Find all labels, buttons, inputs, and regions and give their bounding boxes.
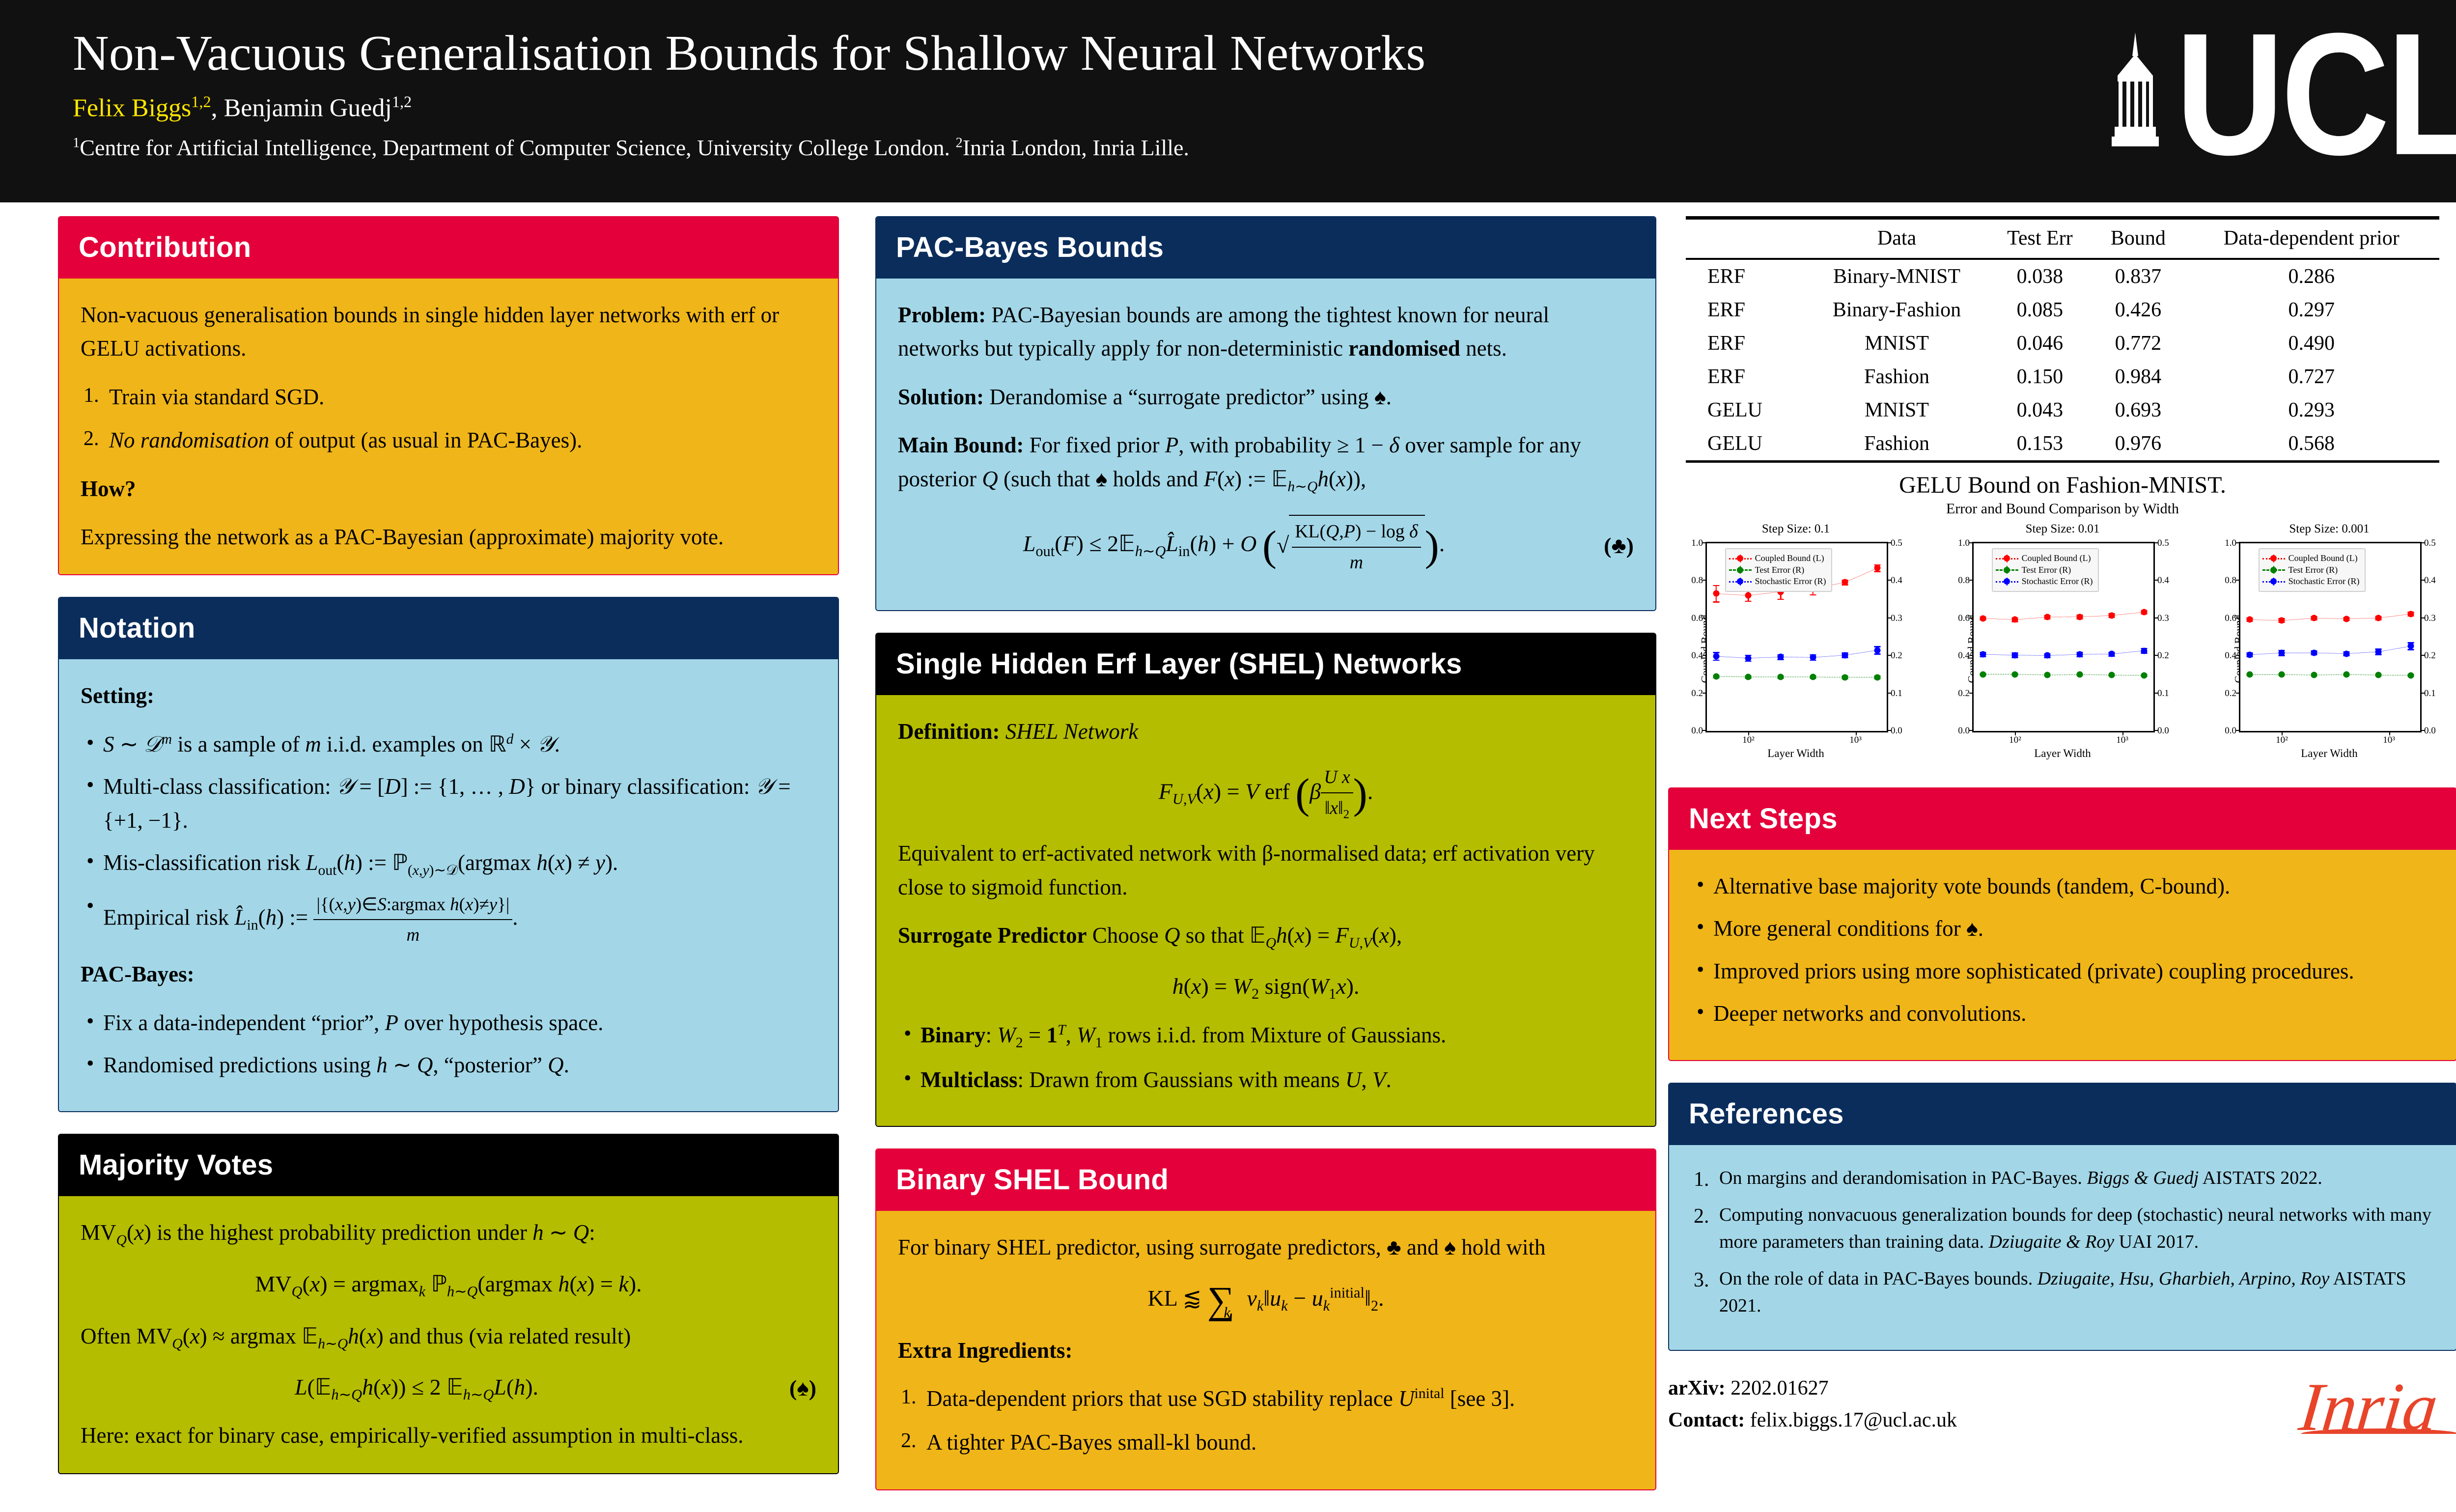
contribution-list: Train via standard SGD. No randomisation… bbox=[84, 380, 816, 457]
data-point bbox=[2109, 613, 2115, 619]
data-point bbox=[1745, 592, 1752, 599]
chart-subplot-row: Step Size: 0.1Coupled BoundStochastic Er… bbox=[1668, 522, 2456, 773]
mv-line-1: MVQ(x) is the highest probability predic… bbox=[81, 1216, 816, 1252]
y-tick-mark-left bbox=[1969, 580, 1974, 581]
arxiv-label: arXiv: bbox=[1668, 1377, 1726, 1400]
contribution-item-1: Train via standard SGD. bbox=[109, 385, 324, 409]
y-tick-left: 0.4 bbox=[2225, 650, 2236, 661]
legend-marker-icon bbox=[1729, 555, 1752, 562]
binary-shel-box: Binary SHEL Bound For binary SHEL predic… bbox=[875, 1148, 1656, 1490]
y-tick-left: 0.4 bbox=[1958, 650, 1970, 661]
table-cell: Binary-Fashion bbox=[1806, 293, 1987, 327]
data-point bbox=[1713, 673, 1719, 680]
list-item: Fix a data-independent “prior”, P over h… bbox=[86, 1006, 816, 1039]
data-point bbox=[2044, 614, 2051, 620]
legend-item: Coupled Bound (L) bbox=[1996, 553, 2093, 563]
majority-votes-box: Majority Votes MVQ(x) is the highest pro… bbox=[58, 1134, 839, 1474]
pbb-main: Main Bound: For fixed prior P, with prob… bbox=[898, 428, 1634, 498]
x-axis-label: Layer Width bbox=[1767, 747, 1824, 760]
list-item: On margins and derandomisation in PAC-Ba… bbox=[1694, 1165, 2434, 1192]
table-cell: 0.297 bbox=[2184, 293, 2440, 327]
y-tick-mark-right bbox=[1887, 730, 1891, 731]
data-point bbox=[2044, 652, 2051, 659]
x-tick: 10² bbox=[1742, 735, 1755, 746]
table-cell: GELU bbox=[1686, 427, 1806, 462]
data-point bbox=[2408, 611, 2414, 617]
legend-item: Stochastic Error (R) bbox=[1996, 576, 2093, 587]
y-tick-mark-right bbox=[1887, 655, 1891, 656]
y-tick-left: 0.0 bbox=[1958, 726, 1970, 736]
author-secondary: , Benjamin Guedj bbox=[211, 94, 392, 122]
shel-equation-1: FU,V(x) = V erf (βU x‖x‖2). bbox=[898, 763, 1634, 824]
author-secondary-affil: 1,2 bbox=[392, 93, 412, 111]
chart-subplot: Step Size: 0.001Coupled BoundStochastic … bbox=[2202, 522, 2456, 773]
legend-label: Test Error (R) bbox=[2022, 565, 2071, 575]
table-cell: 0.727 bbox=[2184, 360, 2440, 393]
y-tick-right: 0.5 bbox=[1891, 538, 1902, 549]
data-point bbox=[1874, 647, 1881, 653]
data-point bbox=[2109, 672, 2115, 678]
data-point bbox=[2141, 672, 2148, 678]
pac-bayes-bounds-body: Problem: PAC-Bayesian bounds are among t… bbox=[876, 279, 1655, 610]
series-line bbox=[1716, 676, 1877, 677]
list-item: Mis-classification risk Lout(h) := ℙ(x,y… bbox=[86, 846, 816, 882]
subplot-area: Coupled BoundStochastic Error / Test Err… bbox=[1935, 538, 2190, 760]
data-point bbox=[2076, 614, 2083, 620]
reference-venue: UAI 2017. bbox=[2114, 1232, 2199, 1252]
shel-equiv-text: Equivalent to erf-activated network with… bbox=[898, 837, 1634, 904]
data-point bbox=[1980, 651, 1986, 658]
data-point bbox=[2246, 651, 2253, 658]
col-data: Data bbox=[1806, 218, 1987, 259]
y-tick-right: 0.3 bbox=[2157, 613, 2169, 624]
y-tick-mark-right bbox=[2153, 730, 2158, 731]
contact-email[interactable]: felix.biggs.17@ucl.ac.uk bbox=[1750, 1409, 1957, 1431]
data-point bbox=[1745, 655, 1752, 661]
col-activation bbox=[1686, 218, 1806, 259]
shel-body: Definition: SHEL Network FU,V(x) = V erf… bbox=[876, 695, 1655, 1126]
list-item: More general conditions for ♠. bbox=[1697, 912, 2434, 945]
table-cell: Fashion bbox=[1806, 427, 1987, 462]
y-tick-left: 0.0 bbox=[1691, 726, 1703, 736]
table-row: ERFBinary-MNIST0.0380.8370.286 bbox=[1686, 259, 2439, 293]
x-tick-mark bbox=[2015, 731, 2016, 735]
subplot-title: Step Size: 0.01 bbox=[1935, 522, 2190, 536]
table-cell: ERF bbox=[1686, 360, 1806, 393]
data-point bbox=[2311, 650, 2317, 656]
data-point bbox=[2375, 615, 2382, 621]
table-cell: 0.837 bbox=[2093, 259, 2183, 293]
data-point bbox=[2076, 651, 2083, 658]
table-cell: 0.490 bbox=[2184, 327, 2440, 360]
notation-box: Notation Setting: S ∼ 𝒟m is a sample of … bbox=[58, 597, 839, 1112]
col-test-err: Test Err bbox=[1987, 218, 2093, 259]
table-cell: 0.038 bbox=[1987, 259, 2093, 293]
data-point bbox=[2311, 615, 2317, 621]
table-cell: Binary-MNIST bbox=[1806, 259, 1987, 293]
y-tick-mark-right bbox=[2420, 693, 2425, 694]
x-tick: 10³ bbox=[2116, 735, 2128, 746]
y-tick-mark-right bbox=[1887, 580, 1891, 581]
pbb-problem-bold: randomised bbox=[1348, 336, 1460, 361]
legend-label: Stochastic Error (R) bbox=[2022, 576, 2093, 587]
series-line bbox=[1983, 651, 2144, 656]
legend-item: Test Error (R) bbox=[1729, 565, 1826, 575]
y-tick-mark-left bbox=[1969, 617, 1974, 618]
header-text-block: Non-Vacuous Generalisation Bounds for Sh… bbox=[73, 26, 1620, 162]
references-body: On margins and derandomisation in PAC-Ba… bbox=[1669, 1145, 2456, 1350]
mv-line-2: Often MVQ(x) ≈ argmax 𝔼h∼Qh(x) and thus … bbox=[81, 1319, 816, 1355]
majority-votes-body: MVQ(x) is the highest probability predic… bbox=[59, 1196, 838, 1473]
mv-line-2-mid: and thus (via related result) bbox=[389, 1324, 631, 1348]
y-tick-mark-left bbox=[1702, 655, 1707, 656]
pbb-problem-b: nets. bbox=[1460, 336, 1507, 361]
data-point bbox=[1713, 653, 1719, 659]
list-item: Multi-class classification: 𝒴 = [D] := {… bbox=[86, 770, 816, 837]
contribution-intro: Non-vacuous generalisation bounds in sin… bbox=[81, 298, 816, 365]
table-cell: MNIST bbox=[1806, 327, 1987, 360]
data-point bbox=[2279, 650, 2285, 656]
references-box: References On margins and derandomisatio… bbox=[1668, 1083, 2456, 1351]
results-table-head: Data Test Err Bound Data-dependent prior bbox=[1686, 218, 2439, 259]
y-tick-right: 0.5 bbox=[2157, 538, 2169, 549]
y-tick-mark-left bbox=[1969, 542, 1974, 543]
y-tick-mark-right bbox=[2153, 655, 2158, 656]
shel-box: Single Hidden Erf Layer (SHEL) Networks … bbox=[875, 633, 1656, 1127]
next-steps-box: Next Steps Alternative base majority vot… bbox=[1668, 787, 2456, 1061]
table-cell: 0.976 bbox=[2093, 427, 2183, 462]
series-line bbox=[1983, 612, 2144, 619]
shel-definition-label: Definition: bbox=[898, 719, 1000, 744]
ucl-wordmark: UCL bbox=[2176, 21, 2456, 167]
pbb-problem-label: Problem: bbox=[898, 303, 986, 327]
next-steps-body: Alternative base majority vote bounds (t… bbox=[1669, 850, 2456, 1060]
y-tick-mark-right bbox=[2153, 542, 2158, 543]
legend-marker-icon bbox=[1729, 578, 1752, 586]
data-point bbox=[2012, 616, 2018, 623]
col-ddp: Data-dependent prior bbox=[2184, 218, 2440, 259]
table-cell: 0.046 bbox=[1987, 327, 2093, 360]
y-tick-mark-left bbox=[1702, 617, 1707, 618]
y-tick-mark-left bbox=[1969, 730, 1974, 731]
table-row: ERFBinary-Fashion0.0850.4260.297 bbox=[1686, 293, 2439, 327]
shel-title: Single Hidden Erf Layer (SHEL) Networks bbox=[876, 634, 1655, 695]
y-tick-right: 0.0 bbox=[2424, 726, 2436, 736]
affil-text-2: Inria London, Inria Lille. bbox=[963, 135, 1189, 160]
chart-legend: Coupled Bound (L)Test Error (R)Stochasti… bbox=[1992, 548, 2099, 592]
contribution-how-text: Expressing the network as a PAC-Bayesian… bbox=[81, 520, 816, 554]
series-line bbox=[2250, 646, 2411, 655]
y-tick-right: 0.1 bbox=[1891, 688, 1902, 699]
contribution-item-2-emph: No randomisation bbox=[109, 428, 269, 452]
x-axis-label: Layer Width bbox=[2034, 747, 2091, 760]
y-tick-left: 1.0 bbox=[1691, 538, 1703, 549]
legend-label: Stochastic Error (R) bbox=[2289, 576, 2360, 587]
data-point bbox=[1980, 671, 1986, 677]
contribution-box: Contribution Non-vacuous generalisation … bbox=[58, 216, 839, 575]
affil-marker-2: 2 bbox=[956, 136, 963, 151]
x-tick: 10² bbox=[2009, 735, 2021, 746]
data-point bbox=[2375, 672, 2382, 678]
binary-shel-extra-label: Extra Ingredients: bbox=[898, 1334, 1634, 1367]
table-row: GELUMNIST0.0430.6930.293 bbox=[1686, 393, 2439, 427]
author-line: Felix Biggs1,2, Benjamin Guedj1,2 bbox=[73, 92, 1620, 124]
x-tick-mark bbox=[1748, 731, 1749, 735]
reference-text: On the role of data in PAC-Bayes bounds. bbox=[1719, 1268, 2037, 1289]
table-cell: 0.568 bbox=[2184, 427, 2440, 462]
x-tick-mark bbox=[2389, 731, 2390, 735]
data-point bbox=[2044, 672, 2051, 678]
legend-item: Stochastic Error (R) bbox=[1729, 576, 1826, 587]
table-cell: 0.286 bbox=[2184, 259, 2440, 293]
plot-frame: 0.00.20.40.60.81.00.00.10.20.30.40.510²1… bbox=[1972, 542, 2155, 732]
affil-marker-1: 1 bbox=[73, 136, 80, 151]
y-tick-mark-right bbox=[2153, 693, 2158, 694]
legend-label: Stochastic Error (R) bbox=[1755, 576, 1826, 587]
table-cell: 0.043 bbox=[1987, 393, 2093, 427]
plot-frame: 0.00.20.40.60.81.00.00.10.20.30.40.510²1… bbox=[2239, 542, 2422, 732]
table-cell: 0.772 bbox=[2093, 327, 2183, 360]
table-cell: 0.153 bbox=[1987, 427, 2093, 462]
y-tick-left: 1.0 bbox=[2225, 538, 2236, 549]
affil-text-1: Centre for Artificial Intelligence, Depa… bbox=[80, 135, 955, 160]
y-tick-mark-right bbox=[2153, 617, 2158, 618]
results-table-body: ERFBinary-MNIST0.0380.8370.286ERFBinary-… bbox=[1686, 259, 2439, 462]
data-point bbox=[2375, 648, 2382, 655]
error-cap bbox=[1778, 599, 1784, 600]
col-bound: Bound bbox=[2093, 218, 2183, 259]
chart-block: GELU Bound on Fashion-MNIST. Error and B… bbox=[1668, 472, 2456, 773]
legend-item: Test Error (R) bbox=[1996, 565, 2093, 575]
binary-shel-title: Binary SHEL Bound bbox=[876, 1149, 1655, 1211]
notation-body: Setting: S ∼ 𝒟m is a sample of m i.i.d. … bbox=[59, 659, 838, 1111]
y-tick-mark-left bbox=[2236, 580, 2240, 581]
y-tick-mark-left bbox=[1969, 655, 1974, 656]
pac-bayes-bounds-box: PAC-Bayes Bounds Problem: PAC-Bayesian b… bbox=[875, 216, 1656, 611]
table-cell: 0.693 bbox=[2093, 393, 2183, 427]
list-item: Improved priors using more sophisticated… bbox=[1697, 954, 2434, 988]
mv-equation-1: MVQ(x) = argmaxk ℙh∼Q(argmax h(x) = k). bbox=[81, 1267, 816, 1303]
data-point bbox=[1842, 674, 1848, 680]
list-item: Train via standard SGD. bbox=[84, 380, 816, 414]
legend-label: Coupled Bound (L) bbox=[1755, 553, 1824, 563]
data-point bbox=[1810, 673, 1816, 680]
table-row: ERFFashion0.1500.9840.727 bbox=[1686, 360, 2439, 393]
list-item: Randomised predictions using h ∼ Q, “pos… bbox=[86, 1048, 816, 1082]
y-tick-left: 0.8 bbox=[1691, 575, 1703, 586]
reference-authors: Dziugaite & Roy bbox=[1989, 1232, 2114, 1252]
y-tick-left: 1.0 bbox=[1958, 538, 1970, 549]
references-title: References bbox=[1669, 1084, 2456, 1145]
poster-header: Non-Vacuous Generalisation Bounds for Sh… bbox=[0, 0, 2456, 202]
table-cell: ERF bbox=[1686, 293, 1806, 327]
reference-venue: AISTATS 2022. bbox=[2199, 1168, 2322, 1188]
legend-marker-icon bbox=[1729, 566, 1752, 574]
chart-title: GELU Bound on Fashion-MNIST. bbox=[1668, 472, 2456, 499]
y-tick-left: 0.6 bbox=[1958, 613, 1970, 624]
data-point bbox=[1713, 590, 1719, 597]
pbb-equation: Lout(F) ≤ 2𝔼h∼QL̂in(h) + O (√KL(Q,P) − l… bbox=[898, 515, 1570, 577]
data-point bbox=[2408, 643, 2414, 649]
series-line bbox=[2250, 614, 2411, 620]
table-cell: 0.293 bbox=[2184, 393, 2440, 427]
legend-marker-icon bbox=[2262, 578, 2285, 586]
y-tick-right: 0.2 bbox=[2424, 650, 2436, 661]
data-point bbox=[2311, 672, 2317, 678]
data-point bbox=[1778, 673, 1784, 680]
legend-label: Coupled Bound (L) bbox=[2022, 553, 2091, 563]
shel-surrogate: Surrogate Predictor Choose Q so that 𝔼Qh… bbox=[898, 919, 1634, 954]
y-tick-mark-right bbox=[1887, 693, 1891, 694]
series-line bbox=[2250, 674, 2411, 675]
contribution-item-2-rest: of output (as usual in PAC-Bayes). bbox=[269, 428, 582, 452]
list-item: Alternative base majority vote bounds (t… bbox=[1697, 869, 2434, 903]
x-tick-mark bbox=[2282, 731, 2283, 735]
next-steps-list: Alternative base majority vote bounds (t… bbox=[1697, 869, 2434, 1031]
list-item: Multiclass: Drawn from Gaussians with me… bbox=[904, 1063, 1634, 1096]
error-cap bbox=[1745, 601, 1752, 602]
data-point bbox=[2076, 672, 2083, 678]
y-tick-left: 0.2 bbox=[2225, 688, 2236, 699]
x-tick-mark bbox=[2122, 731, 2123, 735]
table-cell: ERF bbox=[1686, 327, 1806, 360]
y-tick-right: 0.2 bbox=[1891, 650, 1902, 661]
y-tick-right: 0.4 bbox=[2424, 575, 2436, 586]
data-point bbox=[1874, 674, 1881, 680]
left-column: Contribution Non-vacuous generalisation … bbox=[58, 216, 839, 1496]
majority-votes-title: Majority Votes bbox=[59, 1135, 838, 1196]
shel-definition: Definition: SHEL Network bbox=[898, 715, 1634, 748]
y-tick-left: 0.6 bbox=[2225, 613, 2236, 624]
contribution-title: Contribution bbox=[59, 217, 838, 279]
x-tick: 10³ bbox=[2383, 735, 2395, 746]
legend-item: Test Error (R) bbox=[2262, 565, 2360, 575]
pbb-main-label: Main Bound: bbox=[898, 433, 1024, 457]
table-cell: Fashion bbox=[1806, 360, 1987, 393]
arxiv-value[interactable]: 2202.01627 bbox=[1730, 1377, 1829, 1400]
binary-shel-intro: For binary SHEL predictor, using surroga… bbox=[898, 1231, 1634, 1264]
y-tick-mark-left bbox=[1702, 693, 1707, 694]
y-tick-left: 0.6 bbox=[1691, 613, 1703, 624]
y-tick-right: 0.3 bbox=[2424, 613, 2436, 624]
shel-equation-2: h(x) = W2 sign(W1x). bbox=[898, 969, 1634, 1005]
inria-logo: Inria bbox=[2296, 1368, 2442, 1447]
table-cell: 0.150 bbox=[1987, 360, 2093, 393]
y-tick-left: 0.2 bbox=[1691, 688, 1703, 699]
list-item: Empirical risk L̂in(h) := |{(x,y)∈S:argm… bbox=[86, 891, 816, 949]
data-point bbox=[2109, 651, 2115, 657]
x-tick: 10² bbox=[2276, 735, 2288, 746]
pbb-equation-tag: (♣) bbox=[1570, 529, 1634, 563]
list-item: Data-dependent priors that use SGD stabi… bbox=[901, 1382, 1634, 1415]
y-tick-mark-left bbox=[2236, 730, 2240, 731]
pbb-solution: Solution: Derandomise a “surrogate predi… bbox=[898, 380, 1634, 414]
data-point bbox=[2343, 650, 2349, 657]
affiliation-line: 1Centre for Artificial Intelligence, Dep… bbox=[73, 134, 1620, 162]
data-point bbox=[1810, 654, 1816, 661]
y-tick-left: 0.8 bbox=[1958, 575, 1970, 586]
y-tick-mark-right bbox=[2420, 542, 2425, 543]
series-line bbox=[1716, 650, 1877, 658]
notation-setting-label: Setting: bbox=[81, 679, 816, 712]
y-tick-mark-right bbox=[2153, 580, 2158, 581]
pbb-solution-label: Solution: bbox=[898, 385, 984, 409]
y-tick-mark-right bbox=[2420, 580, 2425, 581]
y-tick-right: 0.0 bbox=[1891, 726, 1902, 736]
next-steps-title: Next Steps bbox=[1669, 788, 2456, 850]
data-point bbox=[2279, 672, 2285, 678]
y-tick-right: 0.1 bbox=[2157, 688, 2169, 699]
data-point bbox=[1874, 565, 1881, 571]
binary-shel-list: Data-dependent priors that use SGD stabi… bbox=[901, 1382, 1634, 1459]
legend-marker-icon bbox=[1996, 566, 2018, 574]
y-tick-mark-left bbox=[1969, 693, 1974, 694]
table-cell: GELU bbox=[1686, 393, 1806, 427]
list-item: Computing nonvacuous generalization boun… bbox=[1694, 1202, 2434, 1256]
chart-legend: Coupled Bound (L)Test Error (R)Stochasti… bbox=[2259, 548, 2366, 592]
subplot-title: Step Size: 0.1 bbox=[1668, 522, 1924, 536]
shel-surrogate-label: Surrogate Predictor bbox=[898, 923, 1087, 948]
pbb-equation-row: Lout(F) ≤ 2𝔼h∼QL̂in(h) + O (√KL(Q,P) − l… bbox=[898, 515, 1634, 577]
error-cap bbox=[1713, 660, 1719, 661]
legend-marker-icon bbox=[1996, 578, 2018, 586]
data-point bbox=[2246, 616, 2253, 623]
legend-marker-icon bbox=[1996, 555, 2018, 562]
shel-bullet-1-label: Binary bbox=[921, 1023, 986, 1047]
y-tick-left: 0.8 bbox=[2225, 575, 2236, 586]
list-item: On the role of data in PAC-Bayes bounds.… bbox=[1694, 1265, 2434, 1319]
error-cap bbox=[1713, 601, 1719, 603]
shel-bullet-2-label: Multiclass bbox=[921, 1067, 1018, 1092]
page-title: Non-Vacuous Generalisation Bounds for Sh… bbox=[73, 26, 1620, 82]
binary-shel-body: For binary SHEL predictor, using surroga… bbox=[876, 1211, 1655, 1489]
data-point bbox=[1980, 615, 1986, 621]
reference-authors: Biggs & Guedj bbox=[2087, 1168, 2199, 1188]
y-tick-left: 0.0 bbox=[2225, 726, 2236, 736]
notation-title: Notation bbox=[59, 598, 838, 659]
subplot-area: Coupled BoundStochastic Error / Test Err… bbox=[2202, 538, 2456, 760]
y-tick-left: 0.2 bbox=[1958, 688, 1970, 699]
y-tick-mark-left bbox=[1702, 730, 1707, 731]
data-point bbox=[2343, 616, 2349, 622]
legend-label: Test Error (R) bbox=[2289, 565, 2338, 575]
y-tick-mark-right bbox=[2420, 730, 2425, 731]
chart-legend: Coupled Bound (L)Test Error (R)Stochasti… bbox=[1725, 548, 1832, 592]
x-tick: 10³ bbox=[1849, 735, 1862, 746]
list-item: Deeper networks and convolutions. bbox=[1697, 997, 2434, 1030]
results-table: Data Test Err Bound Data-dependent prior… bbox=[1686, 216, 2439, 463]
mv-line-1-text: is the highest probability prediction un… bbox=[157, 1220, 527, 1245]
notation-pacbayes-label: PAC-Bayes: bbox=[81, 957, 816, 991]
data-point bbox=[2246, 672, 2253, 678]
pbb-problem: Problem: PAC-Bayesian bounds are among t… bbox=[898, 298, 1634, 365]
y-tick-right: 0.3 bbox=[1891, 613, 1902, 624]
table-cell: 0.085 bbox=[1987, 293, 2093, 327]
list-item: S ∼ 𝒟m is a sample of m i.i.d. examples … bbox=[86, 728, 816, 761]
y-tick-mark-right bbox=[1887, 617, 1891, 618]
y-tick-mark-right bbox=[1887, 542, 1891, 543]
mv-line-3: Here: exact for binary case, empirically… bbox=[81, 1419, 816, 1452]
x-tick-mark bbox=[1856, 731, 1857, 735]
legend-item: Stochastic Error (R) bbox=[2262, 576, 2360, 587]
chart-subplot: Step Size: 0.01Coupled BoundStochastic E… bbox=[1935, 522, 2190, 773]
table-row: GELUFashion0.1530.9760.568 bbox=[1686, 427, 2439, 462]
table-cell: MNIST bbox=[1806, 393, 1987, 427]
middle-column: PAC-Bayes Bounds Problem: PAC-Bayesian b… bbox=[875, 216, 1656, 1512]
y-tick-mark-left bbox=[2236, 542, 2240, 543]
list-item: No randomisation of output (as usual in … bbox=[84, 423, 816, 457]
legend-marker-icon bbox=[2262, 566, 2285, 574]
